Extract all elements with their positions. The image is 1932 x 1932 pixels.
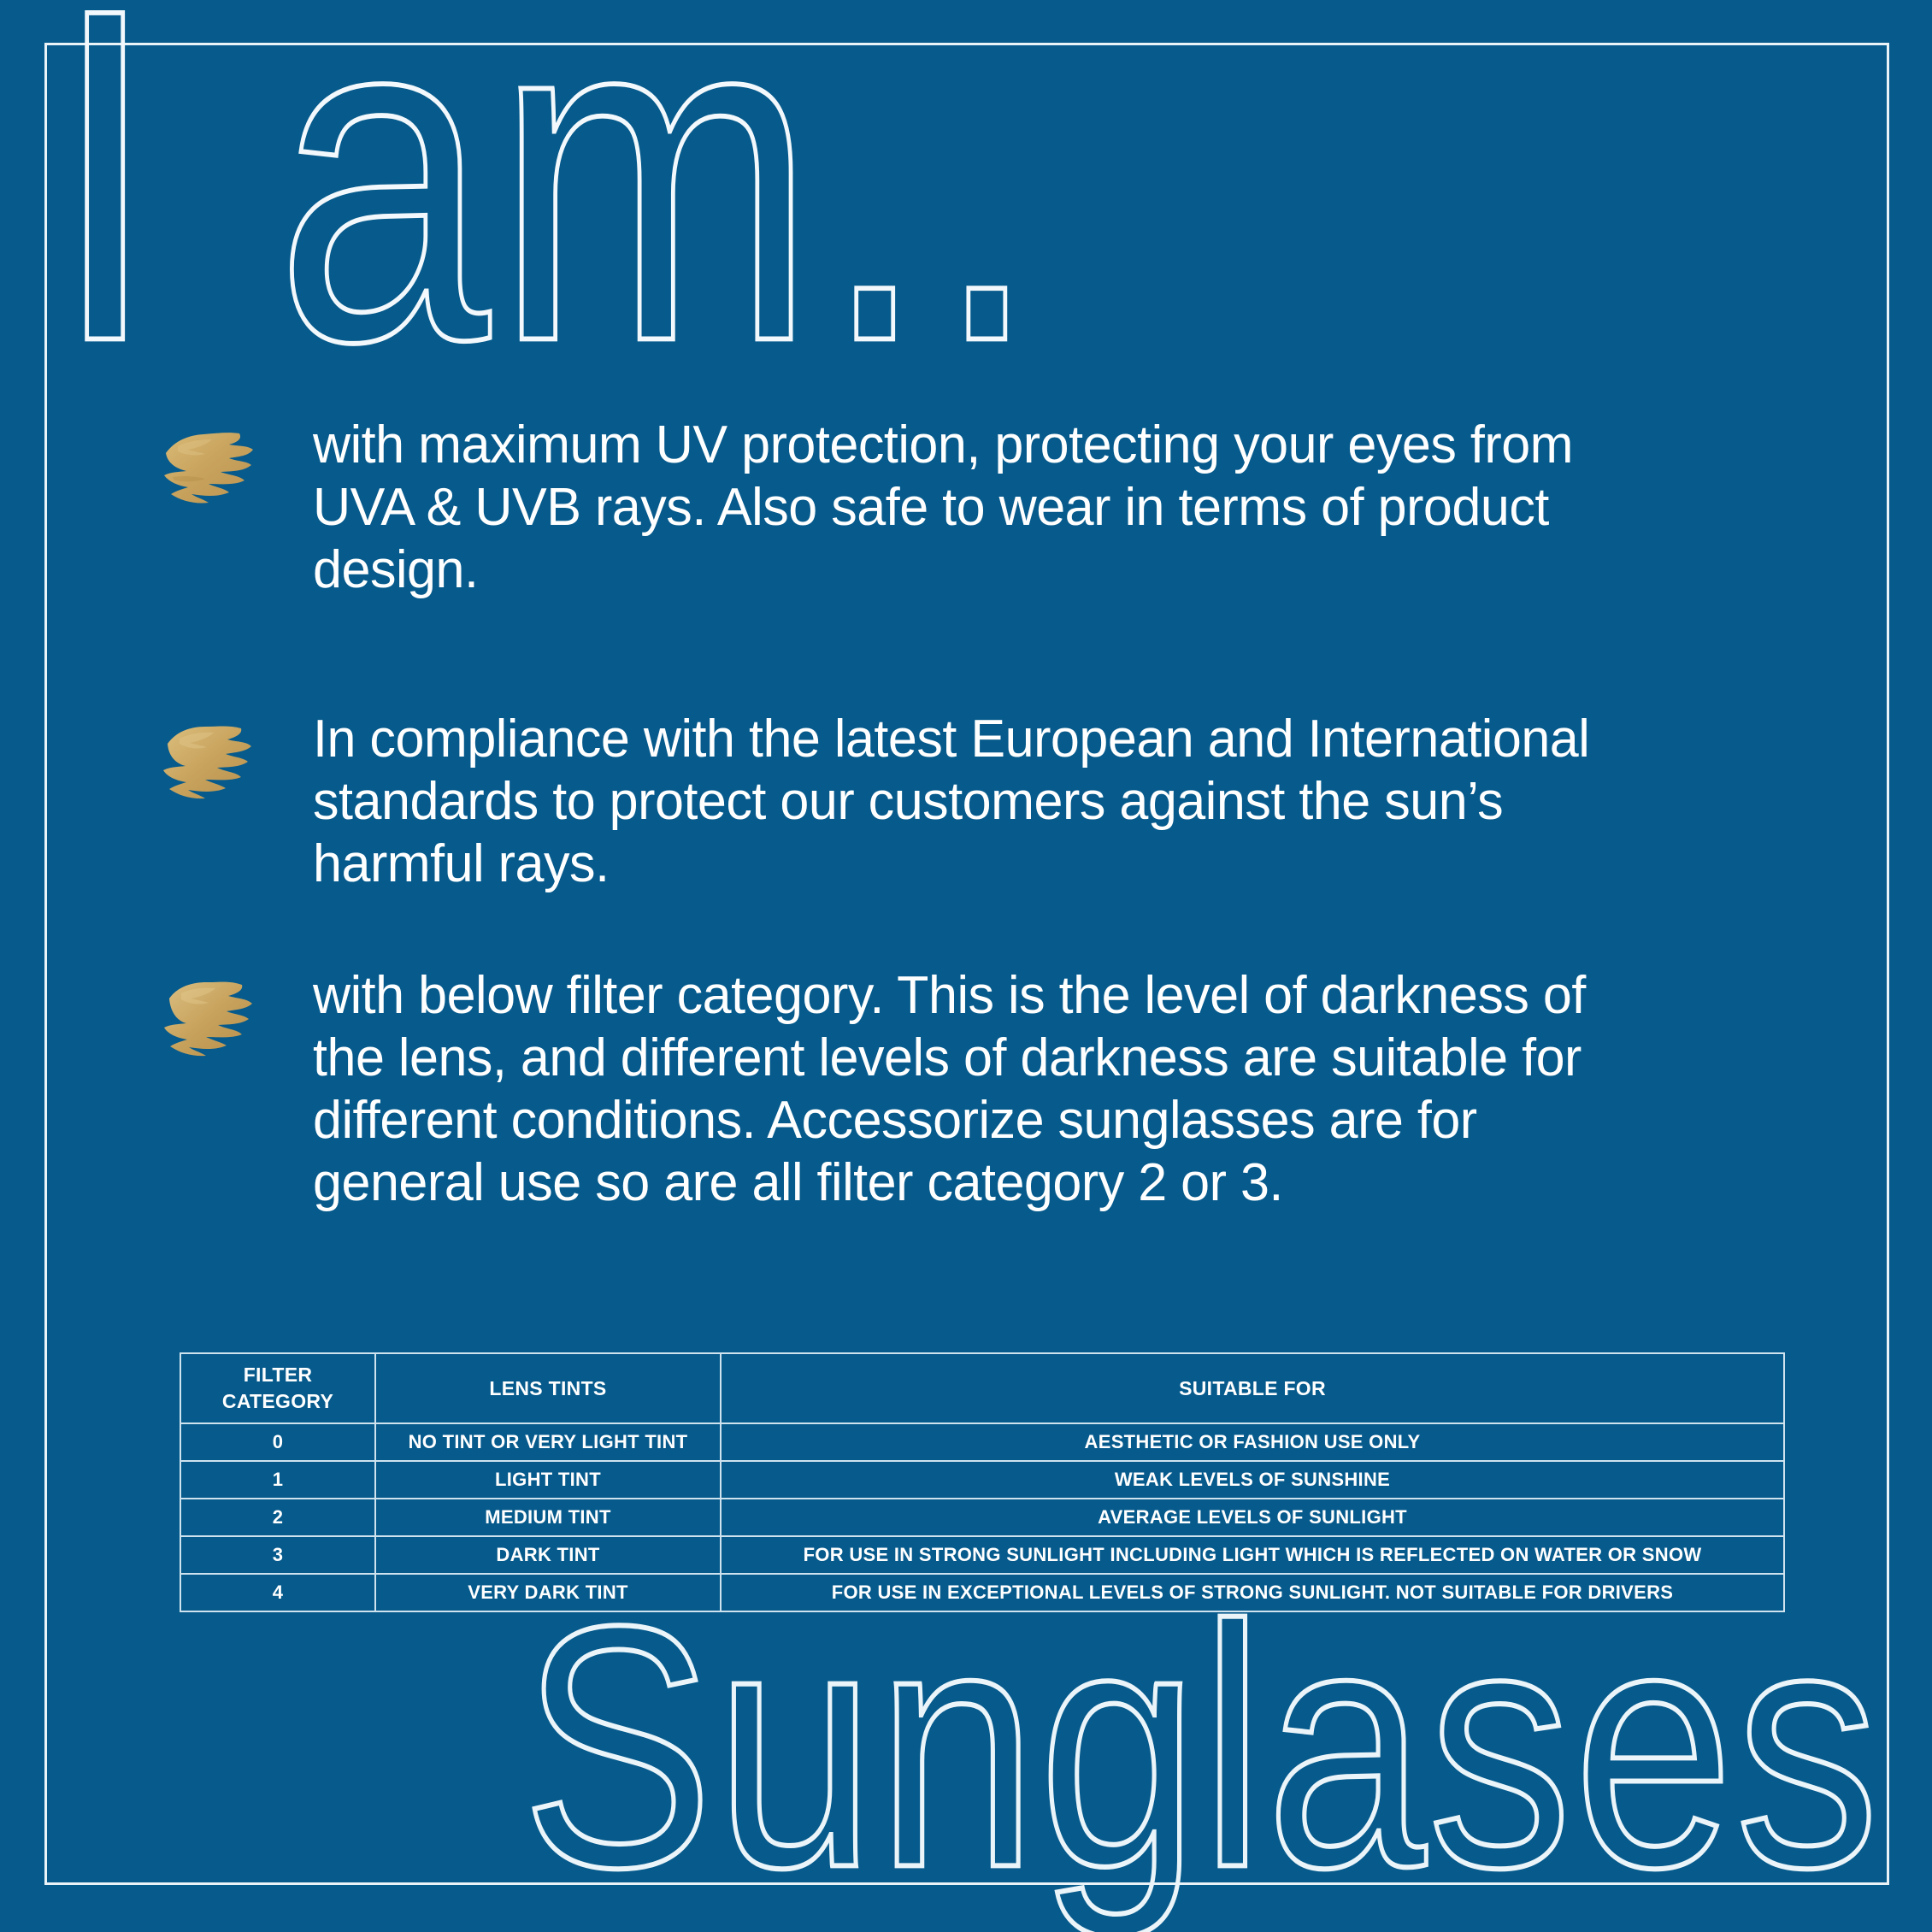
header-filter-line2: CATEGORY <box>183 1388 373 1415</box>
cell-tint: MEDIUM TINT <box>375 1499 721 1536</box>
gold-brush-swatch-icon <box>159 718 260 800</box>
footer-title: Sunglases <box>521 1575 1881 1919</box>
cell-use: WEAK LEVELS OF SUNSHINE <box>721 1461 1784 1499</box>
table-header-row: FILTER CATEGORY LENS TINTS SUITABLE FOR <box>180 1353 1784 1423</box>
cell-category: 2 <box>180 1499 375 1536</box>
gold-brush-swatch-icon <box>159 424 260 506</box>
cell-use: AVERAGE LEVELS OF SUNLIGHT <box>721 1499 1784 1536</box>
bullet-text-2: In compliance with the latest European a… <box>313 708 1643 895</box>
gold-brush-swatch-icon <box>159 975 260 1057</box>
cell-category: 0 <box>180 1423 375 1461</box>
cell-tint: NO TINT OR VERY LIGHT TINT <box>375 1423 721 1461</box>
cell-use: AESTHETIC OR FASHION USE ONLY <box>721 1423 1784 1461</box>
bullet-text-1: with maximum UV protection, protecting y… <box>313 414 1643 601</box>
cell-category: 4 <box>180 1574 375 1611</box>
table-row: 1 LIGHT TINT WEAK LEVELS OF SUNSHINE <box>180 1461 1784 1499</box>
table-header-filter-category: FILTER CATEGORY <box>180 1353 375 1423</box>
table-row: 2 MEDIUM TINT AVERAGE LEVELS OF SUNLIGHT <box>180 1499 1784 1536</box>
table-row: 0 NO TINT OR VERY LIGHT TINT AESTHETIC O… <box>180 1423 1784 1461</box>
table-header-suitable-for: SUITABLE FOR <box>721 1353 1784 1423</box>
bullet-item-3: with below filter category. This is the … <box>159 964 1664 1215</box>
header-filter-line1: FILTER <box>183 1362 373 1388</box>
cell-category: 3 <box>180 1536 375 1574</box>
poster-canvas: I am.. with maximum UV protection, prote… <box>0 0 1932 1932</box>
bullet-item-1: with maximum UV protection, protecting y… <box>159 414 1664 601</box>
page-title: I am.. <box>51 0 1046 413</box>
cell-tint: LIGHT TINT <box>375 1461 721 1499</box>
cell-category: 1 <box>180 1461 375 1499</box>
bullet-text-3: with below filter category. This is the … <box>313 964 1643 1215</box>
table-header-lens-tints: LENS TINTS <box>375 1353 721 1423</box>
bullet-item-2: In compliance with the latest European a… <box>159 708 1664 895</box>
